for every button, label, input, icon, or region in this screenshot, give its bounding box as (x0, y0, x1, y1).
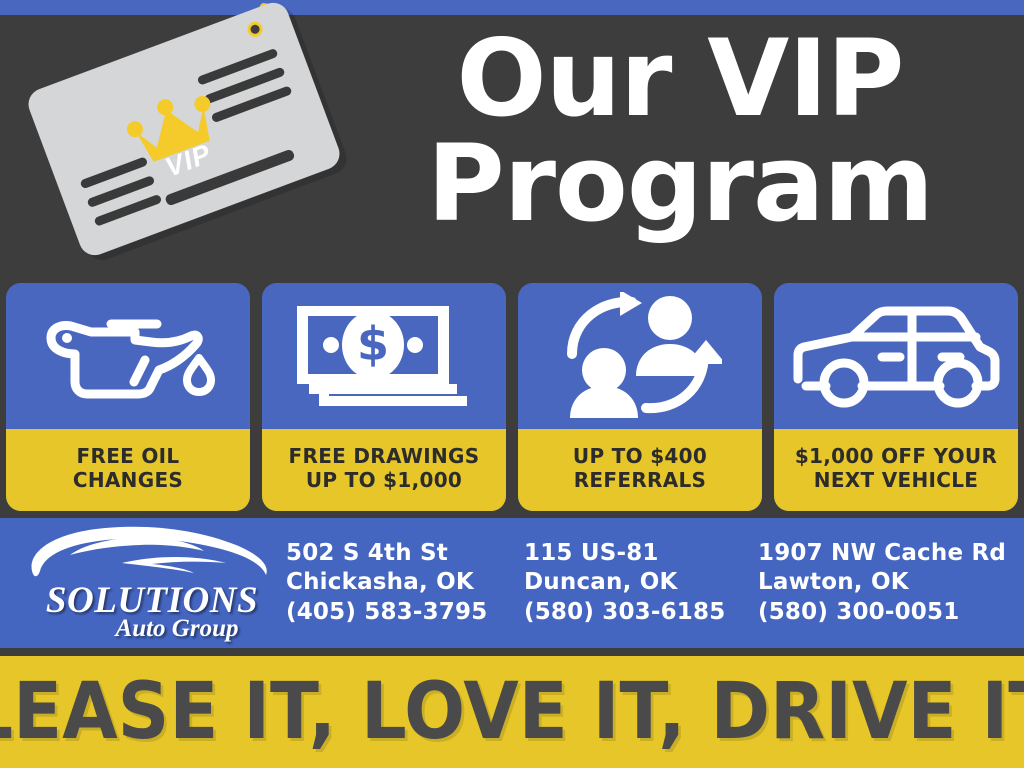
benefit-card-label: $1,000 OFF YOUR NEXT VEHICLE (774, 429, 1018, 511)
card-icon-area (774, 283, 1018, 429)
benefit-card-free-drawings[interactable]: $ FREE DRAWINGS UP TO $1,000 (262, 283, 506, 511)
tagline-text: LEASE IT, LOVE IT, DRIVE IT (0, 667, 1024, 757)
location-item[interactable]: 1907 NW Cache Rd Lawton, OK (580) 300-00… (758, 539, 1018, 628)
location-item[interactable]: 115 US-81 Duncan, OK (580) 303-6185 (524, 539, 758, 628)
benefit-card-label: FREE DRAWINGS UP TO $1,000 (262, 429, 506, 511)
location-street: 115 US-81 (524, 539, 758, 569)
cash-stack-icon: $ (291, 300, 477, 412)
card-icon-area: $ (262, 283, 506, 429)
oil-can-icon (39, 308, 217, 404)
locations-list: 502 S 4th St Chickasha, OK (405) 583-379… (286, 539, 1024, 628)
tagline-banner: LEASE IT, LOVE IT, DRIVE IT (0, 656, 1024, 768)
benefit-label-line-2: NEXT VEHICLE (814, 468, 978, 492)
company-tagline: Auto Group (74, 615, 280, 643)
benefit-label-line-1: $1,000 OFF YOUR (795, 444, 997, 468)
benefit-card-row: FREE OIL CHANGES $ (0, 283, 1024, 511)
hero-section: VIP Our VIP Program (0, 15, 1024, 277)
location-phone[interactable]: (580) 300-0051 (758, 598, 1018, 628)
benefit-card-free-oil-changes[interactable]: FREE OIL CHANGES (6, 283, 250, 511)
location-city: Lawton, OK (758, 568, 1018, 598)
car-silhouette-logo-icon (26, 525, 272, 587)
benefit-card-referrals[interactable]: UP TO $400 REFERRALS (518, 283, 762, 511)
location-item[interactable]: 502 S 4th St Chickasha, OK (405) 583-379… (286, 539, 524, 628)
svg-text:$: $ (357, 317, 389, 371)
location-phone[interactable]: (405) 583-3795 (286, 598, 524, 628)
location-city: Chickasha, OK (286, 568, 524, 598)
location-city: Duncan, OK (524, 568, 758, 598)
location-phone[interactable]: (580) 303-6185 (524, 598, 758, 628)
benefit-label-line-1: FREE OIL (77, 444, 180, 468)
benefit-card-vehicle-discount[interactable]: $1,000 OFF YOUR NEXT VEHICLE (774, 283, 1018, 511)
page-title-line-1: Our VIP (370, 27, 990, 132)
card-icon-area (6, 283, 250, 429)
top-accent-rule (0, 0, 1024, 15)
company-logo[interactable]: SOLUTIONS Auto Group (16, 523, 286, 643)
vip-program-flyer: VIP Our VIP Program (0, 0, 1024, 768)
band-divider (0, 648, 1024, 656)
referral-people-icon (558, 292, 722, 420)
benefit-label-line-1: UP TO $400 (573, 444, 707, 468)
benefit-label-line-2: REFERRALS (574, 468, 707, 492)
contact-band: SOLUTIONS Auto Group 502 S 4th St Chicka… (0, 518, 1024, 648)
benefit-label-line-2: UP TO $1,000 (306, 468, 462, 492)
car-side-icon (790, 303, 1002, 409)
page-title-line-2: Program (370, 132, 990, 237)
vip-badge-illustration: VIP (28, 23, 368, 273)
benefit-card-label: FREE OIL CHANGES (6, 429, 250, 511)
card-icon-area (518, 283, 762, 429)
badge-punch-hole-icon (245, 20, 264, 39)
location-street: 1907 NW Cache Rd (758, 539, 1018, 569)
benefit-card-label: UP TO $400 REFERRALS (518, 429, 762, 511)
benefit-label-line-2: CHANGES (73, 468, 183, 492)
benefit-label-line-1: FREE DRAWINGS (289, 444, 480, 468)
page-title: Our VIP Program (370, 27, 990, 237)
location-street: 502 S 4th St (286, 539, 524, 569)
vip-membership-card-icon: VIP (24, 0, 344, 260)
